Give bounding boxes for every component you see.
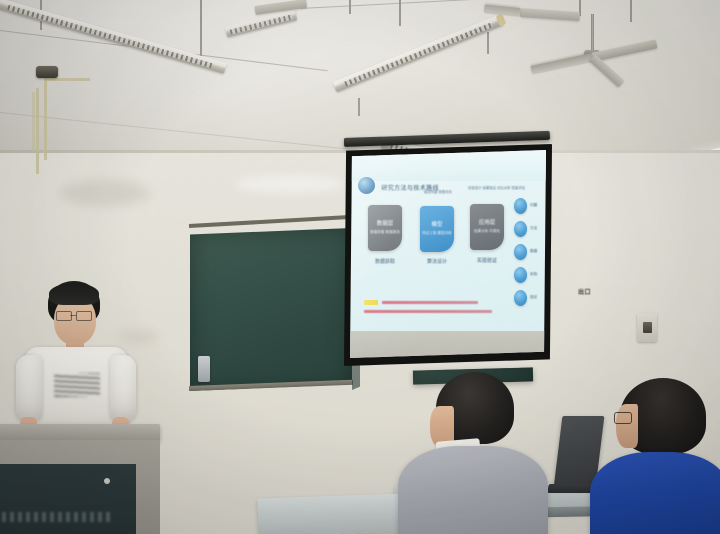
- fan-blade: [484, 4, 521, 17]
- switch-panel-button[interactable]: [643, 322, 652, 333]
- card-top-note: 实验设计 结果验证 对比分析 性能评估: [468, 186, 518, 190]
- lectern-top-surface: [0, 424, 160, 441]
- audience-blue-torso: [590, 452, 720, 534]
- switch-panel[interactable]: [637, 313, 657, 342]
- note-line-1: [382, 301, 478, 304]
- card-caption-1: 数据获取: [364, 258, 406, 265]
- chalk-eraser: [198, 356, 210, 382]
- fan-blade: [589, 54, 625, 87]
- slide-card-1: 数据层 数据采集 数据清洗: [368, 205, 402, 251]
- pill-label-2: 方法: [530, 226, 537, 231]
- fan-blade: [254, 0, 307, 15]
- card-title: 模型: [431, 222, 442, 228]
- lectern-indicator-light: [104, 478, 110, 484]
- light-rod: [349, 0, 351, 14]
- lectern-front-panel: [0, 464, 136, 534]
- card-caption-2: 算法设计: [416, 258, 458, 265]
- pill-label-1: 问题: [530, 203, 537, 208]
- speaker-mount: [36, 66, 58, 78]
- blackboard: [190, 228, 352, 391]
- audience-member-gray: [408, 372, 568, 534]
- conduit-pipe: [44, 78, 90, 81]
- glasses-bridge-icon: [70, 315, 76, 316]
- light-rod: [358, 98, 360, 116]
- slide-pill-1: [514, 198, 527, 214]
- card-title: 数据层: [377, 221, 394, 227]
- pill-label-4: 实验: [530, 272, 537, 277]
- lectern-label: [2, 512, 112, 522]
- classroom-scene: 研究方法与技术路线 模型构建 参数优化 实验设计 结果验证 对比分析 性能评估 …: [0, 0, 720, 534]
- desk-left: [257, 493, 408, 534]
- shirt-graphic: [54, 373, 100, 397]
- note-line-2: [364, 310, 492, 313]
- presenter-left-arm: [16, 355, 42, 421]
- conduit-pipe: [32, 92, 35, 152]
- card-body: 结果分析 可视化: [474, 229, 500, 233]
- card-top-note: 模型构建 参数优化: [416, 190, 460, 194]
- slide-pill-3: [514, 244, 527, 260]
- highlight-marker: [364, 300, 378, 305]
- presenter-fringe: [49, 283, 99, 305]
- exit-sign-text: 出口: [578, 290, 591, 296]
- university-emblem-icon: [358, 177, 375, 194]
- audience-member-blue: [598, 378, 720, 534]
- slide-pill-2: [514, 221, 527, 237]
- audience-gray-torso: [398, 446, 548, 534]
- audience-blue-face: [616, 404, 638, 448]
- presenter-right-arm: [110, 355, 136, 421]
- conduit-pipe: [44, 78, 47, 160]
- slide-pill-4: [514, 267, 527, 283]
- card-body: 数据采集 数据清洗: [370, 230, 400, 234]
- slide-content: 研究方法与技术路线 模型构建 参数优化 实验设计 结果验证 对比分析 性能评估 …: [350, 150, 546, 358]
- slide-pill-5: [514, 290, 527, 306]
- card-title: 应用层: [479, 220, 496, 226]
- ceiling-fan: [215, 0, 335, 36]
- light-rod: [399, 0, 401, 26]
- ceiling-fan: [460, 0, 620, 46]
- slide-card-3: 应用层 结果分析 可视化: [470, 204, 504, 250]
- pill-label-3: 数据: [530, 249, 537, 254]
- exit-sign: 出口: [578, 287, 591, 296]
- glasses-left-lens-icon: [56, 311, 72, 321]
- fan-blade: [530, 53, 593, 75]
- fan-blade: [520, 8, 580, 21]
- slide-card-2: 模型 特征工程 模型训练: [420, 206, 454, 252]
- card-caption-3: 实验验证: [466, 257, 508, 264]
- conduit-pipe: [36, 88, 39, 174]
- light-rod: [200, 0, 202, 60]
- projection-screen-assembly: 研究方法与技术路线 模型构建 参数优化 实验设计 结果验证 对比分析 性能评估 …: [344, 138, 556, 370]
- glasses-right-lens-icon: [76, 311, 92, 321]
- audience-blue-glasses-icon: [614, 412, 632, 424]
- pill-label-5: 结论: [530, 295, 537, 300]
- card-body: 特征工程 模型训练: [422, 231, 452, 235]
- lectern: [0, 424, 160, 534]
